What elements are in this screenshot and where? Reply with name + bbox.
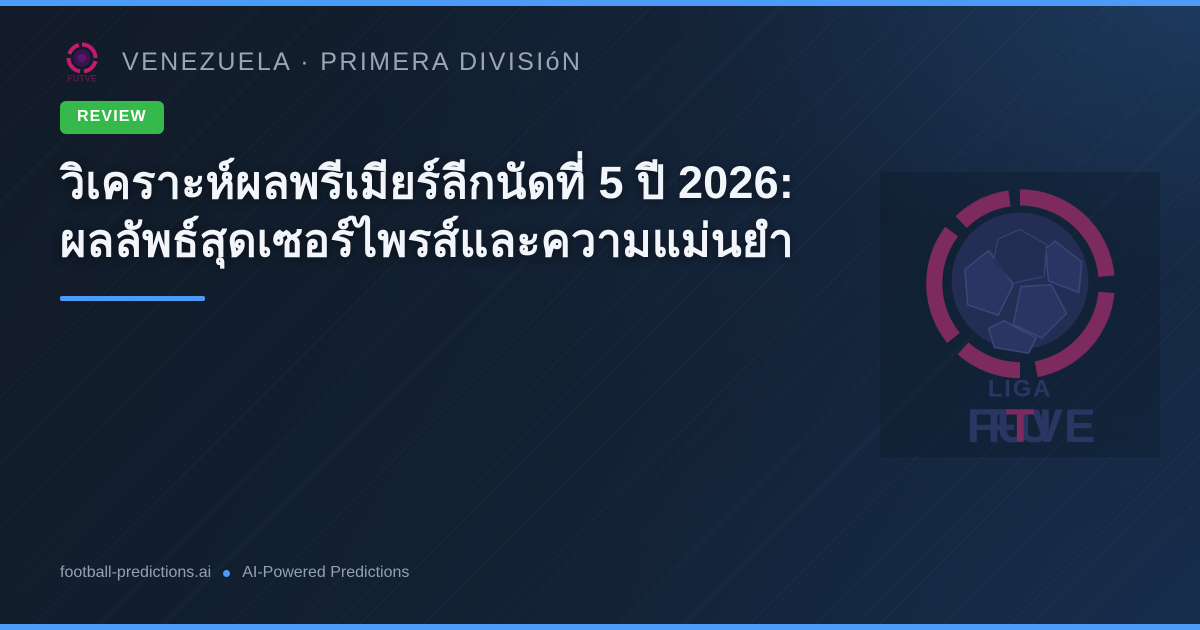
share-card: FUTVE VENEZUELA · PRIMERA DIVISIóN REVIE… [0,0,1200,630]
svg-text:FUTVE: FUTVE [67,74,97,84]
blue-dot-icon [223,570,230,577]
svg-text:VE: VE [1031,400,1096,453]
liga-futve-ring-icon: FUTVE [60,38,104,86]
page-title: วิเคราะห์ผลพรีเมียร์ลีกนัดที่ 5 ปี 2026:… [60,154,860,269]
svg-text:T: T [1006,400,1036,453]
football-icon [952,213,1089,354]
bottom-accent-rule [0,624,1200,630]
page-title-line2: ผลลัพธ์สุดเซอร์ไพรส์และความแม่นยำ [60,212,860,270]
status-badge: REVIEW [60,101,164,134]
site-name: football-predictions.ai [60,564,211,582]
footer: football-predictions.ai AI-Powered Predi… [60,564,409,582]
footer-tagline: AI-Powered Predictions [242,564,409,582]
top-accent-rule [0,0,1200,6]
svg-text:LIGA: LIGA [988,376,1052,402]
league-header: FUTVE VENEZUELA · PRIMERA DIVISIóN [60,34,860,90]
liga-futve-wordmark: LIGA FU FUTVE FU VE T [920,370,1120,457]
segmented-ring-icon [917,186,1123,382]
page-title-line1: วิเคราะห์ผลพรีเมียร์ลีกนัดที่ 5 ปี 2026: [60,154,860,212]
league-title: VENEZUELA · PRIMERA DIVISIóN [122,48,582,77]
content-column: FUTVE VENEZUELA · PRIMERA DIVISIóN REVIE… [60,34,860,301]
title-accent-bar [60,296,205,301]
liga-futve-logo-icon: LIGA FU FUTVE FU VE T [880,172,1160,457]
